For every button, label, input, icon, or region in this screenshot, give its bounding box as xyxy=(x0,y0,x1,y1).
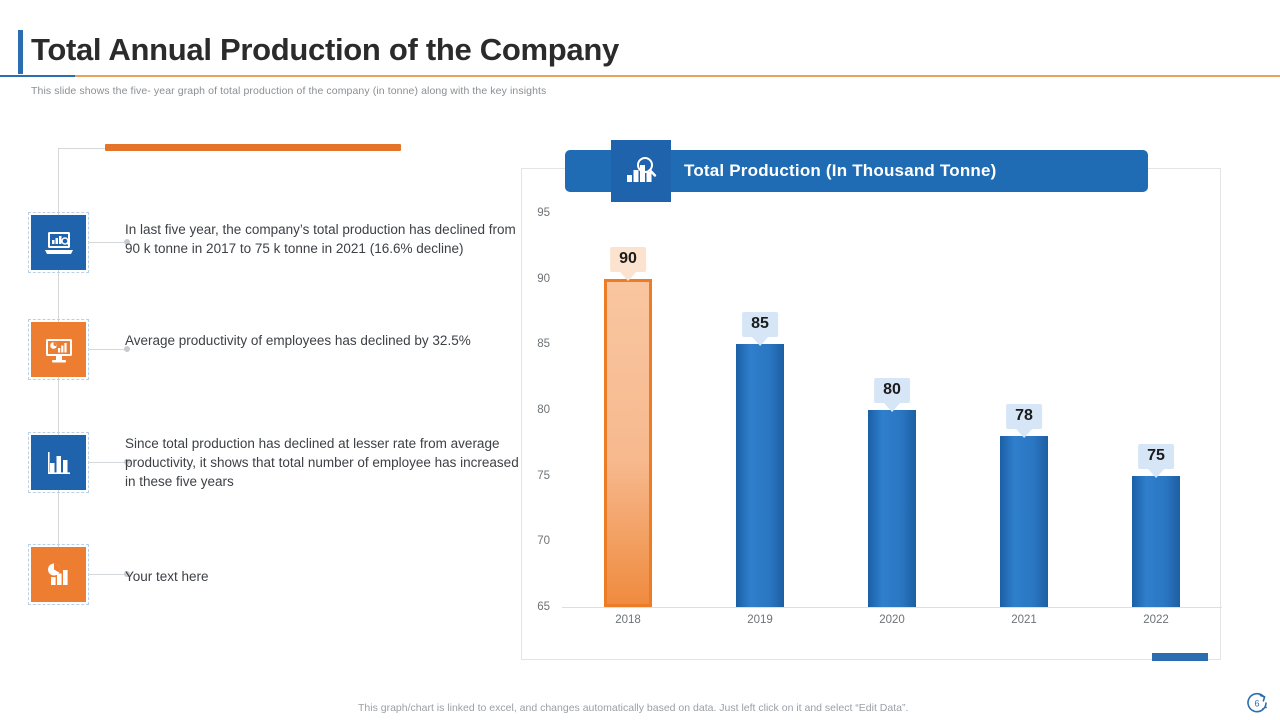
chart-value-label: 90 xyxy=(610,247,646,272)
chart-bar[interactable] xyxy=(736,344,784,607)
insight-text: Since total production has declined at l… xyxy=(125,434,525,491)
monitor-chart-icon xyxy=(31,322,86,377)
chart-header-title: Total Production (In Thousand Tonne) xyxy=(684,161,997,181)
chart-bottom-accent xyxy=(1152,653,1208,661)
connector-lead xyxy=(88,242,128,243)
y-axis-tick: 85 xyxy=(537,338,550,350)
callout-tail xyxy=(884,403,900,412)
page-subtitle: This slide shows the five- year graph of… xyxy=(31,85,546,97)
connector-lead xyxy=(88,349,128,350)
bar-chart-magnifier-icon xyxy=(611,140,671,202)
bar-chart-icon xyxy=(31,435,86,490)
chart-baseline xyxy=(562,607,1222,608)
title-accent-bar xyxy=(18,30,23,74)
chart-bar[interactable] xyxy=(604,279,652,607)
callout-tail xyxy=(752,337,768,346)
page-title: Total Annual Production of the Company xyxy=(31,32,619,68)
page-number-badge: 6 xyxy=(1242,688,1272,718)
chart-bar[interactable] xyxy=(868,410,916,607)
x-axis-label: 2019 xyxy=(747,614,773,626)
chart-bar[interactable] xyxy=(1000,436,1048,607)
insight-text: Your text here xyxy=(125,567,525,586)
title-rule-orange xyxy=(75,75,1280,77)
y-axis-tick: 90 xyxy=(537,273,550,285)
x-axis-label: 2022 xyxy=(1143,614,1169,626)
x-axis-label: 2021 xyxy=(1011,614,1037,626)
callout-tail xyxy=(1148,469,1164,478)
connector-lead xyxy=(88,574,128,575)
chart-value-label: 85 xyxy=(742,312,778,337)
y-axis-tick: 75 xyxy=(537,470,550,482)
svg-text:6: 6 xyxy=(1254,699,1259,709)
y-axis-tick: 70 xyxy=(537,535,550,547)
laptop-analytics-icon xyxy=(31,215,86,270)
insight-text: Average productivity of employees has de… xyxy=(125,331,525,350)
x-axis-label: 2018 xyxy=(615,614,641,626)
x-axis-label: 2020 xyxy=(879,614,905,626)
insight-text: In last five year, the company’s total p… xyxy=(125,220,525,258)
callout-tail xyxy=(620,272,636,281)
chart-plot-area: 959085807570659085807875 xyxy=(562,213,1222,607)
chart-value-label: 75 xyxy=(1138,444,1174,469)
callout-tail xyxy=(1016,429,1032,438)
y-axis-tick: 95 xyxy=(537,207,550,219)
slide-root: Total Annual Production of the Company T… xyxy=(0,0,1280,720)
connector-top-elbow xyxy=(58,148,106,149)
title-rule-blue xyxy=(0,75,75,77)
footer-note: This graph/chart is linked to excel, and… xyxy=(358,702,908,714)
y-axis-tick: 65 xyxy=(537,601,550,613)
pie-bar-chart-icon xyxy=(31,547,86,602)
connector-lead xyxy=(88,462,128,463)
section-accent-bar xyxy=(105,144,401,151)
chart-value-label: 78 xyxy=(1006,404,1042,429)
chart-value-label: 80 xyxy=(874,378,910,403)
chart-bar[interactable] xyxy=(1132,476,1180,607)
y-axis-tick: 80 xyxy=(537,404,550,416)
